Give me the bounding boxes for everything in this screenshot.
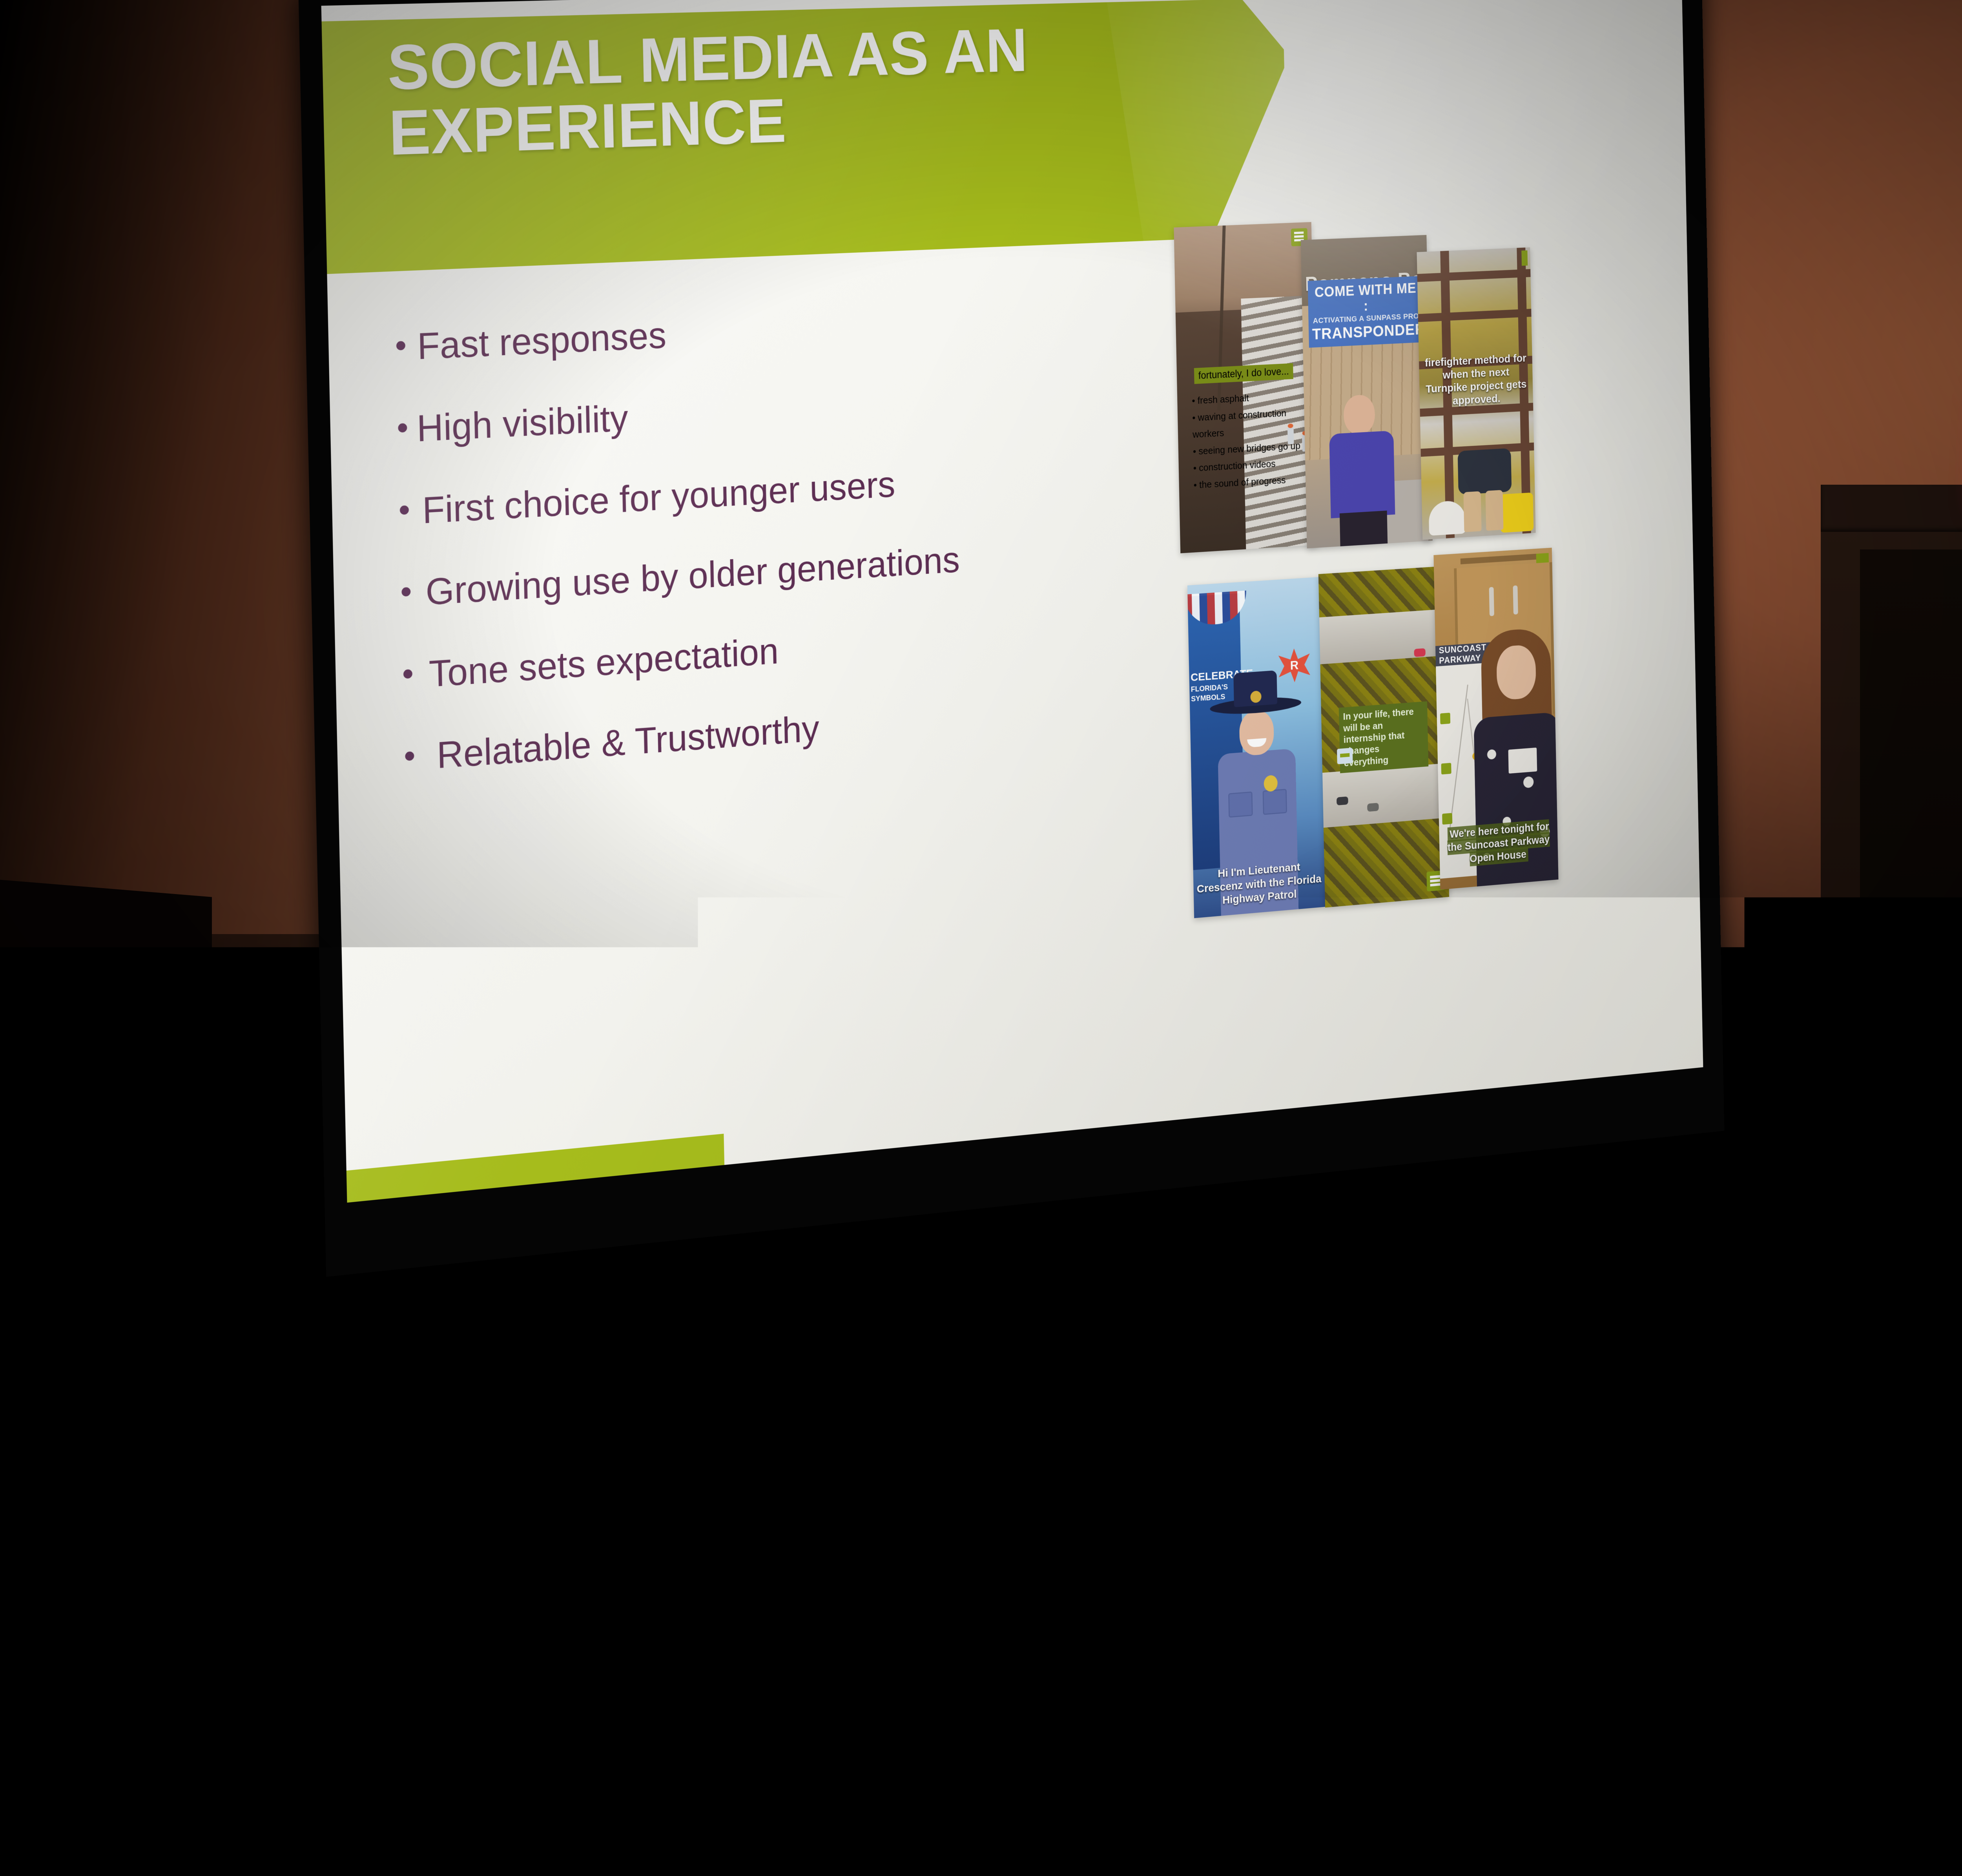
- reel-caption: In your life, there will be an internshi…: [1343, 705, 1424, 769]
- map-shield-marker: [1441, 763, 1451, 775]
- slide-title: SOCIAL MEDIA AS AN EXPERIENCE: [387, 15, 1158, 166]
- boots: [1463, 486, 1504, 532]
- overlay-line-1: COME WITH ME :: [1311, 281, 1420, 317]
- thumbnail-trooper-reel: CELEBRATE FLORIDA'S SYMBOLS Hi I'm Li: [1187, 577, 1325, 918]
- vegetation-strip: [1324, 818, 1449, 907]
- list-item: • First choice for younger users: [390, 452, 1131, 532]
- dark-equipment: [0, 879, 212, 1327]
- bullet-label: High visibility: [416, 399, 629, 449]
- pants: [1340, 511, 1388, 548]
- bullet-label: Relatable & Trustworthy: [423, 709, 820, 777]
- bullet-point-icon: •: [393, 655, 422, 690]
- bullet-point-icon: •: [392, 573, 421, 608]
- route-shield-icon: [1337, 748, 1353, 764]
- bullet-label: First choice for younger users: [418, 465, 896, 531]
- list-item: • Tone sets expectation: [393, 609, 1134, 697]
- list-item: • Relatable & Trustworthy: [395, 687, 1135, 779]
- bullet-label: Tone sets expectation: [421, 632, 779, 695]
- vegetation-strip: [1318, 566, 1444, 617]
- uniform-pocket: [1228, 792, 1253, 818]
- reel-caption-text: We're here tonight for the Suncoast Park…: [1448, 819, 1550, 866]
- bullet-point-icon: •: [395, 737, 424, 772]
- power-led-indicator: [226, 1024, 241, 1034]
- presenter-figure: [1327, 390, 1398, 547]
- bullet-list: • Fast responses • High visibility • Fir…: [386, 296, 1136, 821]
- vehicle: [1337, 796, 1348, 805]
- thumbnail-open-house-reel: SUNCOAST PARKWAY We're here tonight for …: [1433, 548, 1558, 890]
- thumbnail-internship-reel: In your life, there will be an internshi…: [1318, 566, 1449, 908]
- projector-screen: SOCIAL MEDIA AS AN EXPERIENCE • Fast res…: [298, 0, 1725, 1277]
- polo-shirt: [1329, 431, 1395, 518]
- bullet-label: Fast responses: [415, 316, 667, 367]
- thumbnail-construction-reel: fortunately, I do love... fresh asphalt …: [1174, 222, 1318, 553]
- vehicle: [1367, 803, 1379, 812]
- reel-overlay-banner: COME WITH ME : ACTIVATING A SUNPASS PRO …: [1308, 276, 1424, 348]
- presentation-slide: SOCIAL MEDIA AS AN EXPERIENCE • Fast res…: [321, 0, 1703, 1203]
- boot: [1485, 490, 1503, 531]
- list-item: • Fast responses: [386, 296, 1127, 368]
- head: [1343, 394, 1375, 436]
- boot: [1463, 491, 1481, 532]
- thumbnail-sunpass-reel: Pompano Beach COME WITH ME : ACTIVATING …: [1301, 235, 1433, 549]
- door-slab[interactable]: [1860, 549, 1962, 1325]
- bullet-point-icon: •: [388, 409, 417, 443]
- list-item: • High visibility: [388, 374, 1129, 450]
- map-shield-marker: [1442, 813, 1452, 825]
- face: [1239, 710, 1275, 756]
- list-item: • Growing use by older generations: [392, 530, 1132, 614]
- bullet-point-icon: •: [386, 327, 415, 361]
- name-tag: [1508, 748, 1537, 774]
- door-handle: [1513, 585, 1518, 615]
- highway-lane: [1319, 609, 1444, 664]
- door-handle: [1489, 587, 1494, 616]
- map-shield-marker: [1440, 713, 1450, 724]
- thumbnail-firefighter-reel: firefighter method for when the next Tur…: [1417, 247, 1535, 540]
- safety-jacket: [1500, 493, 1533, 533]
- uniform-pocket: [1263, 789, 1287, 815]
- bullet-label: Growing use by older generations: [420, 541, 960, 613]
- door-header-trim: [1821, 485, 1962, 532]
- vehicle: [1414, 648, 1425, 657]
- agency-logo-icon: [1521, 250, 1528, 266]
- reel-caption: firefighter method for when the next Tur…: [1422, 352, 1530, 409]
- bullet-point-icon: •: [390, 491, 419, 526]
- social-media-collage: fortunately, I do love... fresh asphalt …: [1173, 190, 1664, 945]
- reel-caption-list: fresh asphalt waving at construction wor…: [1192, 386, 1317, 493]
